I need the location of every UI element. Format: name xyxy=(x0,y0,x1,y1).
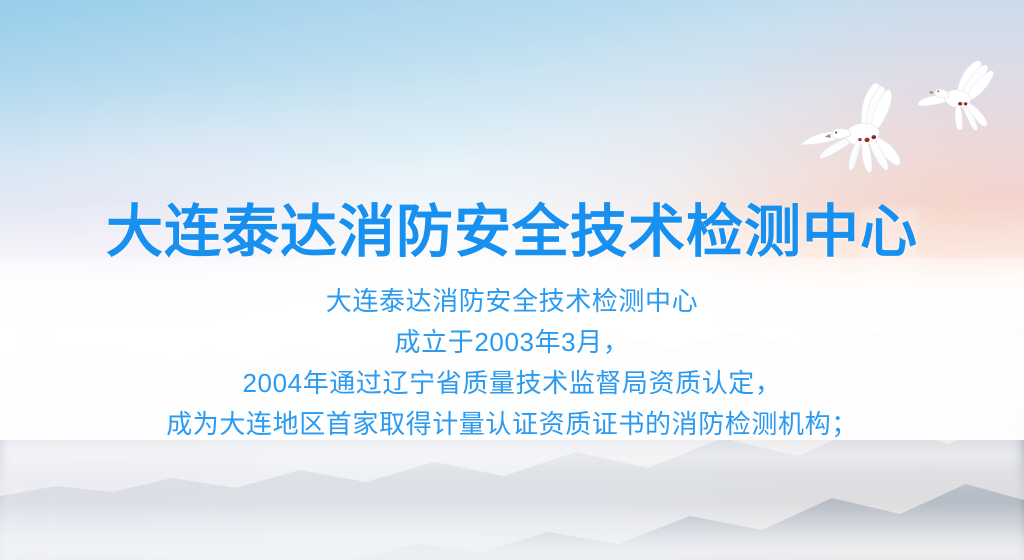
intro-paragraph: 大连泰达消防安全技术检测中心 成立于2003年3月， 2004年通过辽宁省质量技… xyxy=(0,281,1024,445)
dove-right xyxy=(904,49,1022,147)
paragraph-line-4: 成为大连地区首家取得计量认证资质证书的消防检测机构； xyxy=(0,404,1024,445)
page-title: 大连泰达消防安全技术检测中心 xyxy=(0,200,1024,264)
paragraph-line-1: 大连泰达消防安全技术检测中心 xyxy=(0,281,1024,322)
paragraph-line-3: 2004年通过辽宁省质量技术监督局资质认定， xyxy=(0,363,1024,404)
fog-band-lower xyxy=(0,464,1024,560)
promo-banner: 大连泰达消防安全技术检测中心 大连泰达消防安全技术检测中心 成立于2003年3月… xyxy=(0,0,1024,560)
dove-left xyxy=(795,75,934,184)
paragraph-line-2: 成立于2003年3月， xyxy=(0,322,1024,363)
